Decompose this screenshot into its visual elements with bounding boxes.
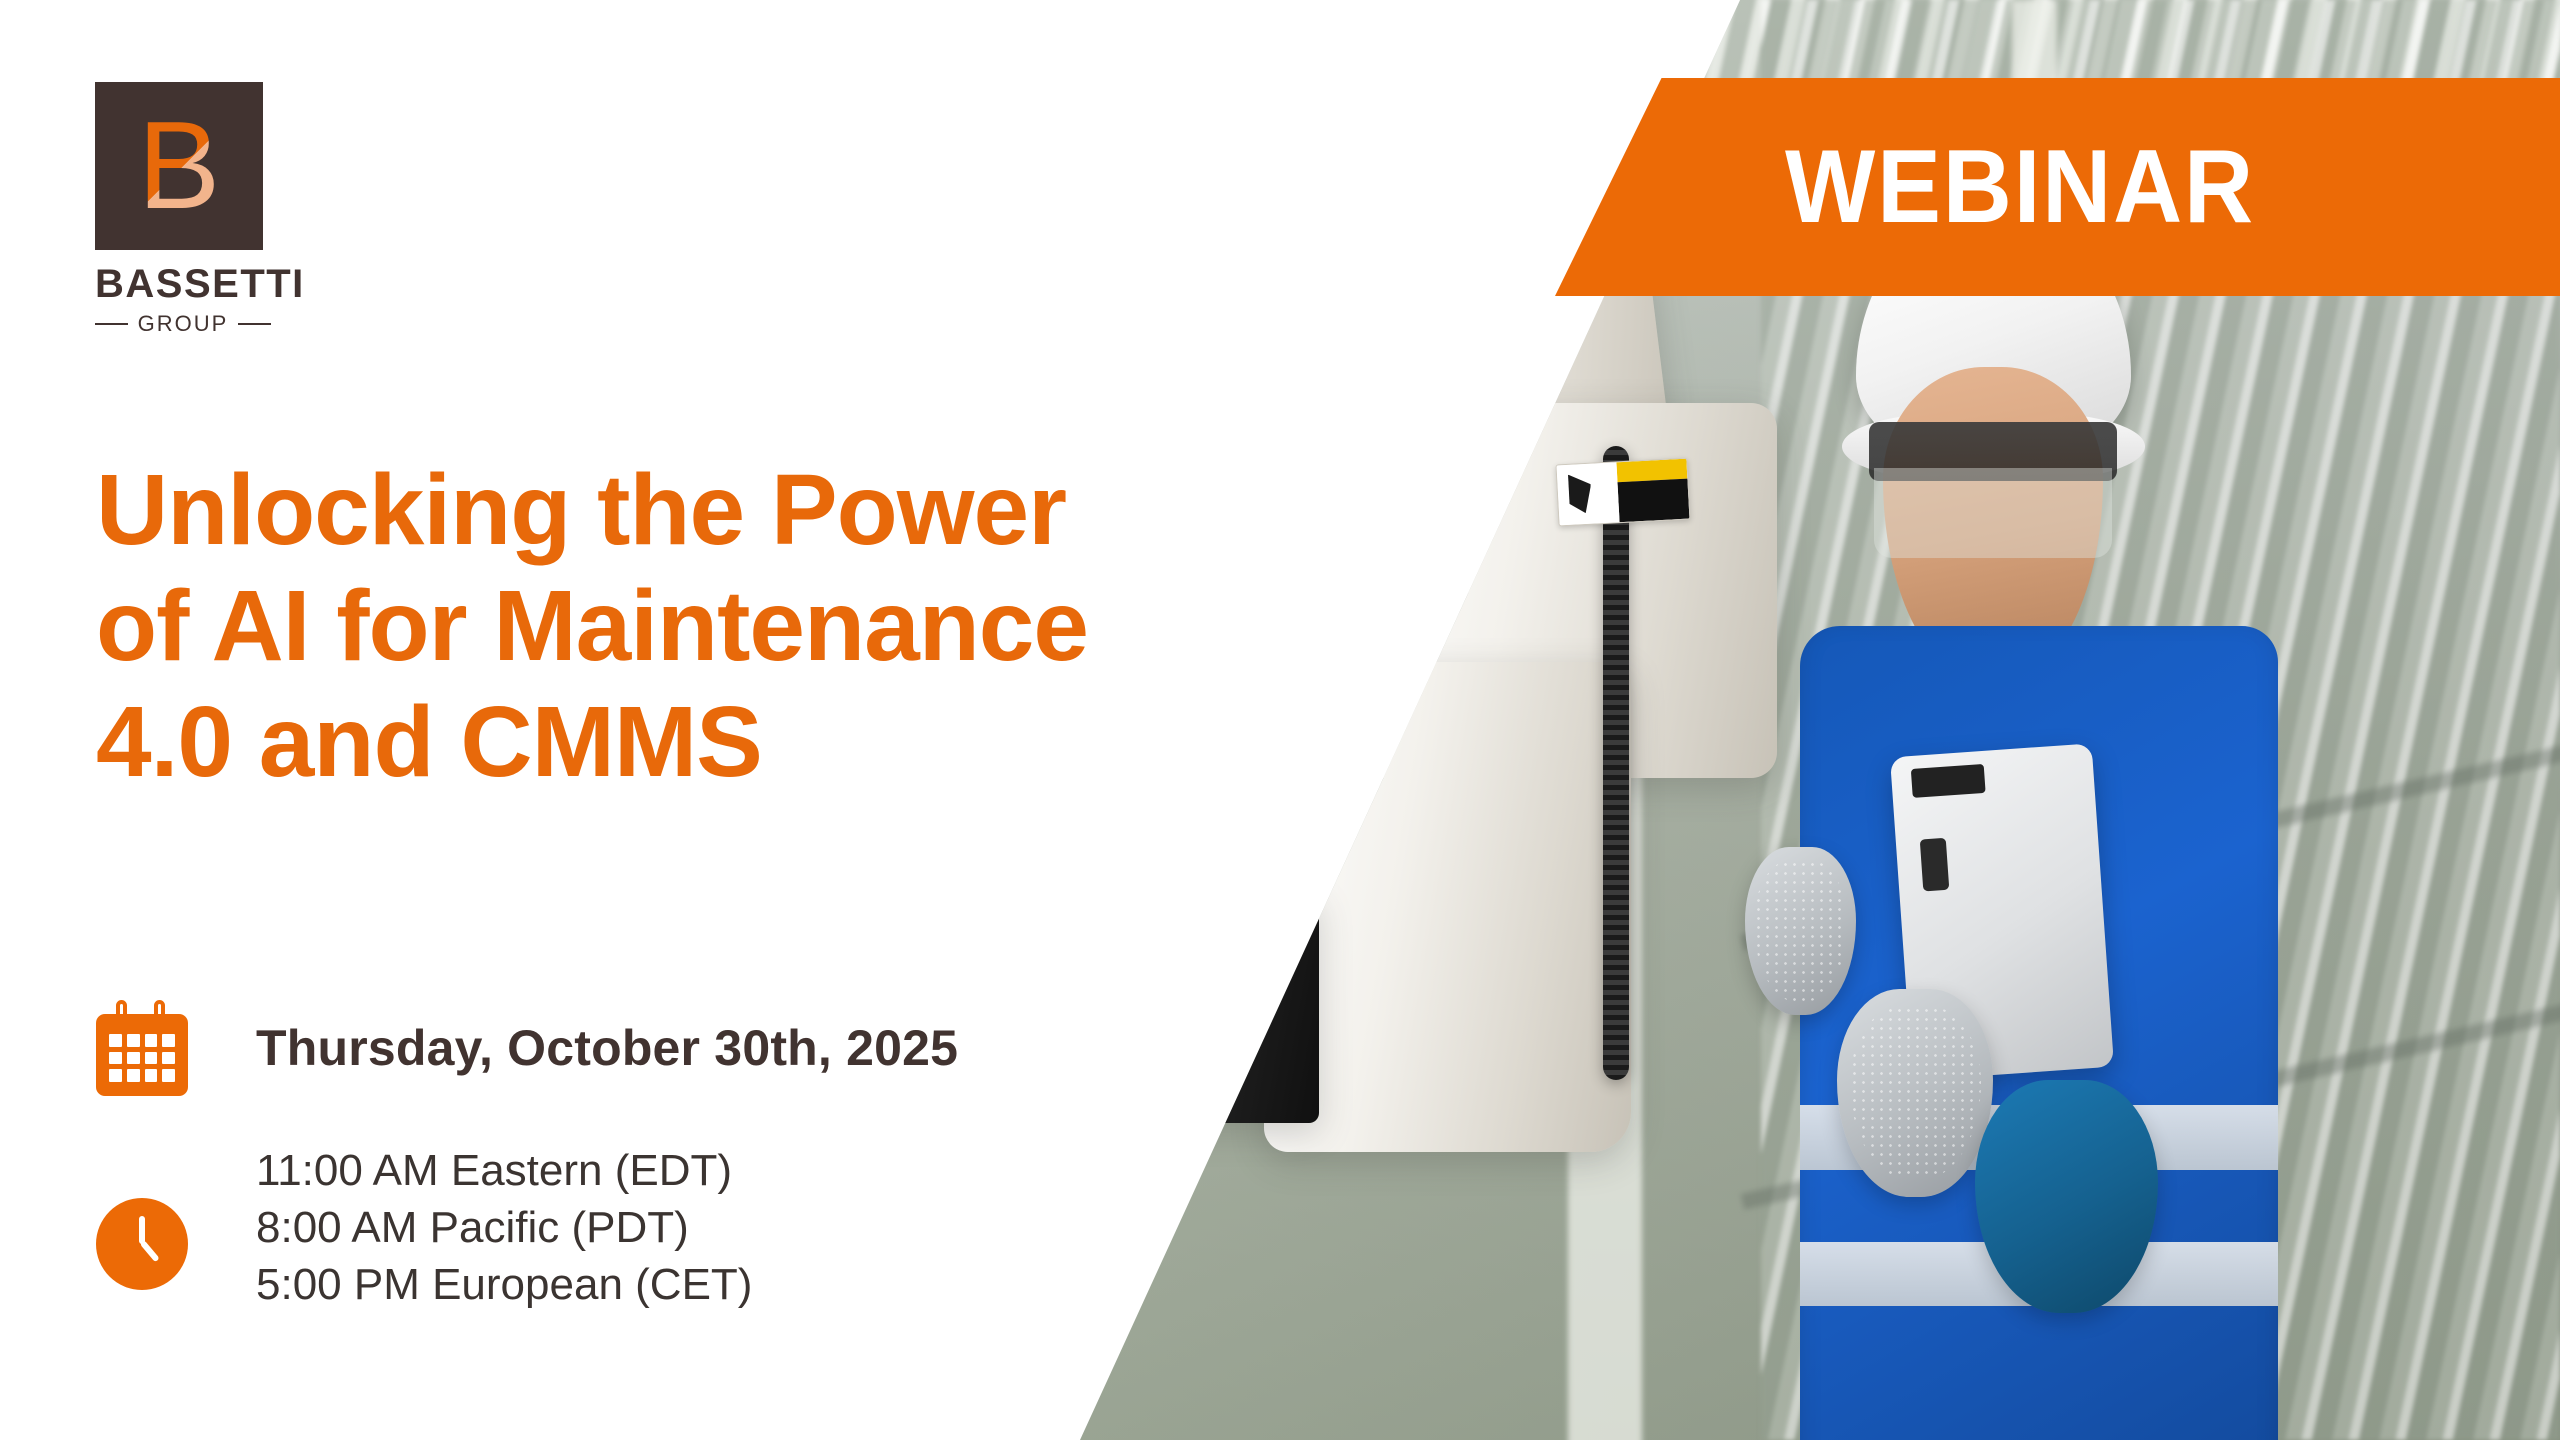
webinar-banner-label: WEBINAR [1785, 135, 2255, 239]
event-times-text: 11:00 AM Eastern (EDT) 8:00 AM Pacific (… [256, 1142, 752, 1314]
worker-figure [1672, 173, 2560, 1440]
logo-subtitle-row: GROUP [95, 313, 271, 335]
clock-icon [96, 1198, 188, 1290]
brand-logo[interactable]: B BASSETTI GROUP [95, 82, 375, 335]
headline-line-3: 4.0 and CMMS [96, 684, 1536, 800]
event-times-row: 11:00 AM Eastern (EDT) 8:00 AM Pacific (… [96, 1142, 1196, 1314]
robot-upper-link [1168, 0, 1524, 231]
logo-mark: B [95, 82, 263, 250]
logo-subtitle: GROUP [138, 313, 229, 335]
row-spacer [96, 1096, 1196, 1142]
safety-glasses [1869, 422, 2117, 482]
webinar-promo-canvas: WEBINAR B BASSETTI GROUP Unlocking the P… [0, 0, 2560, 1440]
logo-company-name: BASSETTI [95, 264, 375, 304]
clock-icon-slot [96, 1142, 256, 1290]
calendar-icon-slot [96, 1000, 256, 1096]
headline-line-1: Unlocking the Power [96, 452, 1536, 568]
event-date-row: Thursday, October 30th, 2025 [96, 1000, 1196, 1096]
event-time-item: 11:00 AM Eastern (EDT) [256, 1142, 752, 1199]
event-time-item: 8:00 AM Pacific (PDT) [256, 1199, 752, 1256]
work-glove-right [1975, 1080, 2159, 1313]
webinar-banner: WEBINAR [1555, 78, 2560, 296]
logo-rule-left [95, 323, 128, 325]
robot-cable-conduit [1603, 446, 1629, 1080]
work-glove-left [1837, 989, 1993, 1196]
event-date-text: Thursday, October 30th, 2025 [256, 1021, 958, 1076]
page-title: Unlocking the Power of AI for Maintenanc… [96, 452, 1536, 800]
logo-letter-b: B [138, 104, 221, 228]
event-details: Thursday, October 30th, 2025 11:00 AM Ea… [96, 1000, 1196, 1314]
event-time-item: 5:00 PM European (CET) [256, 1256, 752, 1313]
warning-label-icon [1556, 457, 1691, 526]
logo-rule-right [238, 323, 271, 325]
work-glove-upper [1745, 847, 1855, 1015]
calendar-icon [96, 1000, 188, 1096]
robot-joint-collar [1355, 187, 1539, 317]
headline-line-2: of AI for Maintenance [96, 568, 1536, 684]
